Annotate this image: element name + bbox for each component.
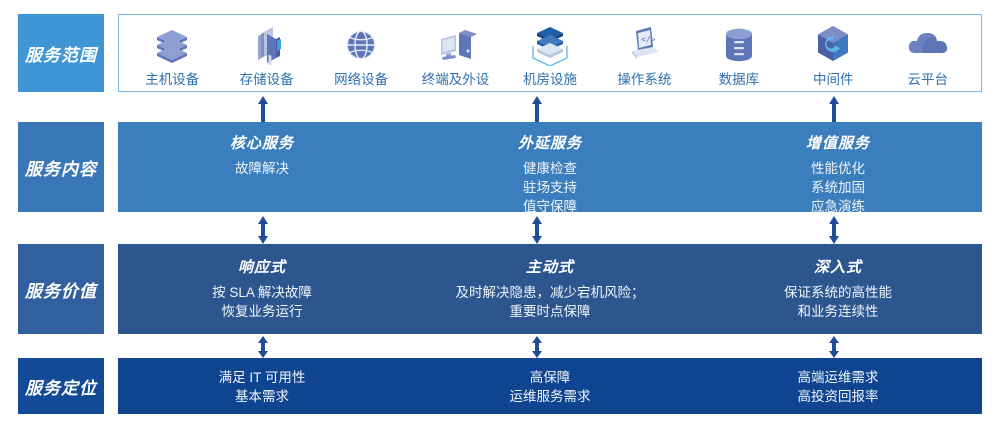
value-column-line: 按 SLA 解决故障 <box>212 283 312 302</box>
row-label-service-position: 服务定位 <box>18 358 104 414</box>
value-column-line: 及时解决隐患，减少宕机风险； <box>456 283 645 302</box>
arrow-scope-to-content-right <box>827 96 841 122</box>
position-column-line: 运维服务需求 <box>510 387 591 406</box>
server-stack-icon <box>152 24 192 66</box>
scope-item-terminal[interactable]: 终端及外设 <box>410 18 502 88</box>
position-panel: 满足 IT 可用性 基本需求 高保障 运维服务需求 高端运维需求 高投资回报率 <box>118 358 982 414</box>
operating-system-icon: </> <box>623 24 665 66</box>
row-label-service-content: 服务内容 <box>18 122 104 212</box>
value-column-line: 恢复业务运行 <box>222 302 303 321</box>
arrow-scope-to-content-left <box>256 96 270 122</box>
arrow-value-to-position-right <box>827 336 841 358</box>
row-label-service-scope: 服务范围 <box>18 14 104 92</box>
scope-item-label: 主机设备 <box>145 68 199 88</box>
position-column-highend[interactable]: 高端运维需求 高投资回报率 <box>694 358 982 406</box>
value-column-proactive[interactable]: 主动式 及时解决隐患，减少宕机风险； 重要时点保障 <box>406 244 694 321</box>
arrow-scope-to-content-mid <box>530 96 544 122</box>
content-column-line: 驻场支持 <box>523 178 577 197</box>
content-column-title: 增值服务 <box>806 132 870 153</box>
position-column-line: 满足 IT 可用性 <box>219 368 306 387</box>
content-column-extended[interactable]: 外延服务 健康检查 驻场支持 值守保障 <box>406 122 694 216</box>
scope-item-datacenter[interactable]: 机房设施 <box>504 18 596 88</box>
position-column-line: 高端运维需求 <box>798 368 879 387</box>
position-column-line: 高保障 <box>530 368 571 387</box>
value-panel: 响应式 按 SLA 解决故障 恢复业务运行 主动式 及时解决隐患，减少宕机风险；… <box>118 244 982 334</box>
datacenter-facility-icon <box>529 24 571 66</box>
scope-item-host[interactable]: 主机设备 <box>126 18 218 88</box>
scope-item-network[interactable]: 网络设备 <box>315 18 407 88</box>
storage-array-icon <box>247 24 287 66</box>
scope-item-label: 数据库 <box>719 68 760 88</box>
scope-item-label: 机房设施 <box>523 68 577 88</box>
middleware-cube-icon <box>813 24 853 66</box>
position-column-line: 基本需求 <box>235 387 289 406</box>
value-column-title: 响应式 <box>238 256 286 277</box>
value-column-indepth[interactable]: 深入式 保证系统的高性能 和业务连续性 <box>694 244 982 321</box>
scope-item-label: 云平台 <box>907 68 948 88</box>
globe-network-icon <box>341 24 381 66</box>
scope-item-os[interactable]: </> 操作系统 <box>598 18 690 88</box>
database-icon <box>720 24 758 66</box>
scope-item-label: 网络设备 <box>334 68 388 88</box>
scope-item-label: 终端及外设 <box>422 68 490 88</box>
content-column-line: 健康检查 <box>523 159 577 178</box>
arrow-value-to-position-left <box>256 336 270 358</box>
scope-item-label: 存储设备 <box>240 68 294 88</box>
scope-item-database[interactable]: 数据库 <box>693 18 785 88</box>
scope-item-label: 中间件 <box>813 68 854 88</box>
position-column-assurance[interactable]: 高保障 运维服务需求 <box>406 358 694 406</box>
cloud-platform-icon <box>906 24 950 66</box>
svg-text:</>: </> <box>641 35 656 44</box>
scope-panel: 主机设备 存储设备 <box>118 14 982 92</box>
content-column-title: 外延服务 <box>518 132 582 153</box>
position-column-line: 高投资回报率 <box>798 387 879 406</box>
content-column-line: 应急演练 <box>811 197 865 216</box>
value-column-reactive[interactable]: 响应式 按 SLA 解决故障 恢复业务运行 <box>118 244 406 321</box>
value-column-line: 保证系统的高性能 <box>784 283 892 302</box>
arrow-content-to-value-right <box>827 216 841 244</box>
content-column-line: 性能优化 <box>811 159 865 178</box>
desktop-peripheral-icon <box>435 24 477 66</box>
content-column-line: 值守保障 <box>523 197 577 216</box>
value-column-line: 和业务连续性 <box>798 302 879 321</box>
value-column-line: 重要时点保障 <box>510 302 591 321</box>
scope-item-label: 操作系统 <box>617 68 671 88</box>
value-column-title: 主动式 <box>526 256 574 277</box>
service-framework-diagram: 服务范围 主机设备 <box>0 0 1000 424</box>
arrow-content-to-value-mid <box>530 216 544 244</box>
content-column-valueadd[interactable]: 增值服务 性能优化 系统加固 应急演练 <box>694 122 982 216</box>
scope-item-storage[interactable]: 存储设备 <box>221 18 313 88</box>
arrow-value-to-position-mid <box>530 336 544 358</box>
content-column-line: 系统加固 <box>811 178 865 197</box>
content-panel: 核心服务 故障解决 外延服务 健康检查 驻场支持 值守保障 增值服务 性能优化 … <box>118 122 982 212</box>
scope-item-cloud[interactable]: 云平台 <box>882 18 974 88</box>
content-column-title: 核心服务 <box>230 132 294 153</box>
scope-item-middleware[interactable]: 中间件 <box>787 18 879 88</box>
content-column-core[interactable]: 核心服务 故障解决 <box>118 122 406 178</box>
content-column-line: 故障解决 <box>235 159 289 178</box>
position-column-basic[interactable]: 满足 IT 可用性 基本需求 <box>118 358 406 406</box>
row-label-service-value: 服务价值 <box>18 244 104 334</box>
arrow-content-to-value-left <box>256 216 270 244</box>
value-column-title: 深入式 <box>814 256 862 277</box>
